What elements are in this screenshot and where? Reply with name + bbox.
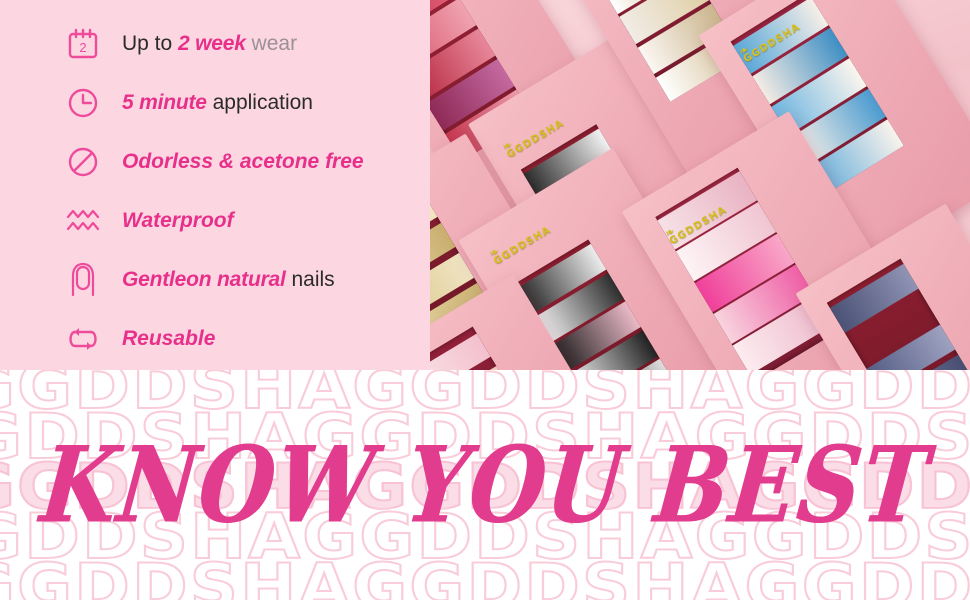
calendar-icon: 2	[58, 22, 108, 66]
feature-highlight: Waterproof	[122, 209, 234, 232]
feature-row: Waterproof	[0, 191, 430, 250]
feature-label: Waterproof	[122, 210, 234, 231]
brand-logo: ❧ GGDDSHA	[489, 219, 553, 267]
loop-arrows-icon	[58, 317, 108, 361]
features-panel: 2 Up to 2 week wear 5 minute application	[0, 0, 430, 370]
feature-highlight: 2 week	[178, 32, 246, 55]
feature-label: Gentleon natural nails	[122, 269, 335, 290]
feature-highlight: Reusable	[122, 327, 215, 350]
feature-label: Odorless & acetone free	[122, 151, 364, 172]
top-section: 2 Up to 2 week wear 5 minute application	[0, 0, 970, 370]
calendar-day-number: 2	[79, 40, 86, 55]
feature-label: Reusable	[122, 328, 215, 349]
feature-row: 5 minute application	[0, 73, 430, 132]
feature-row: Odorless & acetone free	[0, 132, 430, 191]
headline-section: GGDDSHAGGDDSHAGGDDSHAGGDDSHAGGDDSHAGGDDS…	[0, 370, 970, 600]
feature-row: Reusable	[0, 309, 430, 368]
water-waves-icon	[58, 199, 108, 243]
feature-trail: nails	[286, 268, 335, 291]
headline-text: KNOW YOU BEST	[35, 423, 934, 546]
fingernail-icon	[58, 258, 108, 302]
feature-label: Up to 2 week wear	[122, 33, 297, 54]
feature-trail: wear	[246, 32, 297, 55]
product-photo: ❧ GGDDSHA ❧ GGDDSHA	[430, 0, 970, 370]
feature-row: Gentleon natural nails	[0, 250, 430, 309]
no-entry-icon	[58, 140, 108, 184]
feature-lead: Up to	[122, 32, 178, 55]
promo-banner: 2 Up to 2 week wear 5 minute application	[0, 0, 970, 600]
feature-row: 2 Up to 2 week wear	[0, 14, 430, 73]
feature-label: 5 minute application	[122, 92, 313, 113]
clock-icon	[58, 81, 108, 125]
feature-highlight: Gentleon natural	[122, 268, 286, 291]
feature-trail: application	[207, 91, 313, 114]
feature-highlight: Odorless & acetone free	[122, 150, 364, 173]
headline: KNOW YOU BEST	[0, 370, 970, 600]
feature-highlight: 5 minute	[122, 91, 207, 114]
